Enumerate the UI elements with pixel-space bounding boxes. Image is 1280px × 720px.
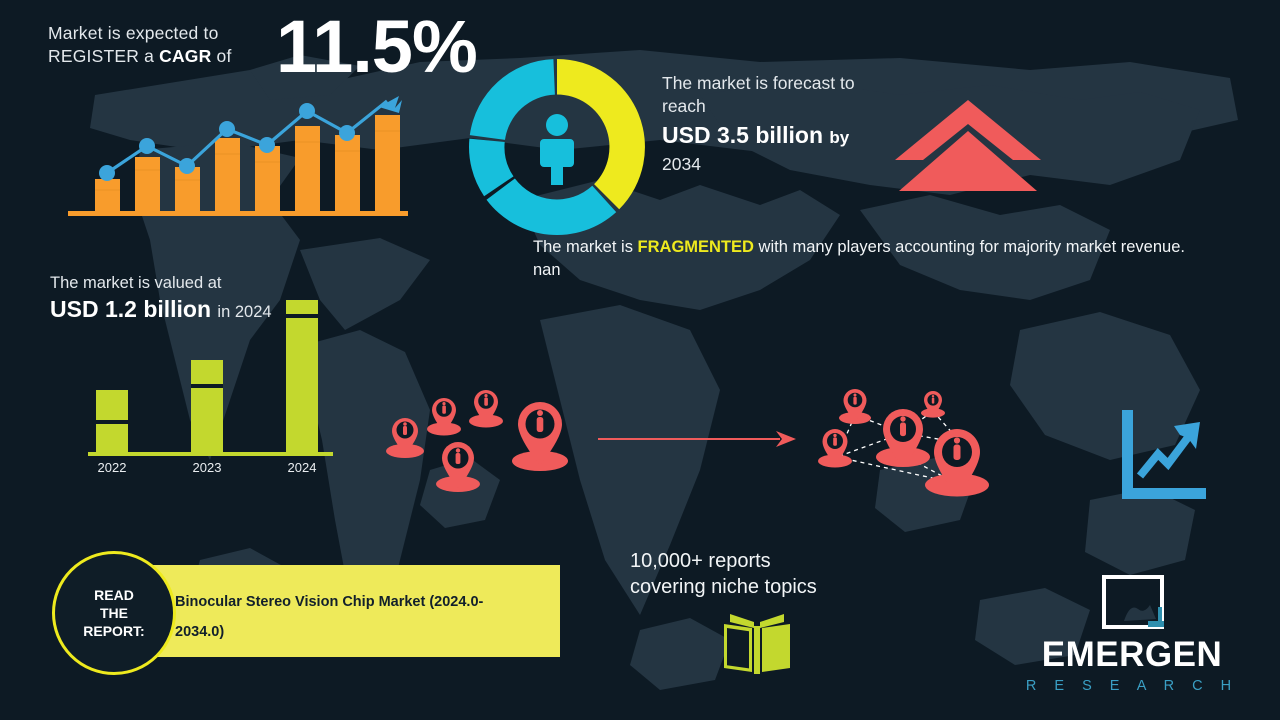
fragmented-pre: The market is — [533, 238, 638, 256]
right-arrow-icon — [598, 428, 798, 450]
valued-lead: The market is valued at — [50, 272, 350, 294]
green-bar-series — [96, 300, 318, 454]
donut-slice-cyan-3 — [470, 59, 555, 140]
market-share-donut-chart — [462, 52, 652, 242]
map-pin-person-icon — [818, 429, 852, 468]
cagr-lead-line2-pre: REGISTER a — [48, 46, 159, 66]
read-report-line1: READ — [94, 587, 134, 603]
read-report-line2: THE — [100, 605, 128, 621]
bar-series — [95, 115, 400, 212]
forecast-lead: The market is forecast to reach — [662, 72, 892, 118]
emergen-research-logo: EMERGEN R E S E A R C H — [1012, 573, 1252, 701]
xtick-2024: 2024 — [288, 460, 317, 472]
chart-baseline — [68, 211, 408, 216]
cagr-lead-line2-post: of — [211, 46, 231, 66]
cagr-lead-line1: Market is expected to — [48, 23, 219, 43]
map-pin-person-icon — [925, 429, 989, 497]
donut-slice-yellow — [557, 59, 645, 209]
map-pin-person-icon — [386, 418, 424, 458]
reports-line2: covering niche topics — [630, 576, 817, 598]
map-pin-person-icon — [839, 389, 871, 424]
logo-name: EMERGEN — [1012, 635, 1252, 675]
report-title[interactable]: Binocular Stereo Vision Chip Market (202… — [175, 587, 520, 647]
cagr-label: Market is expected to REGISTER a CAGR of — [48, 22, 263, 68]
forecast-value-suffix: by — [829, 128, 849, 147]
map-pin-cluster-scattered — [380, 388, 580, 493]
market-value-bars-chart: 2022 2023 2024 — [78, 292, 348, 472]
logo-subtitle: R E S E A R C H — [1012, 677, 1252, 695]
growth-trend-bars-chart — [68, 78, 408, 220]
person-icon — [540, 114, 574, 185]
forecast-value-row: USD 3.5 billion by — [662, 120, 892, 153]
map-pin-person-icon — [427, 398, 461, 436]
map-pin-person-icon — [876, 409, 930, 467]
fragmented-statement: The market is FRAGMENTED with many playe… — [533, 236, 1213, 282]
forecast-value: USD 3.5 billion — [662, 122, 823, 148]
infographic-canvas: Market is expected to REGISTER a CAGR of… — [0, 0, 1280, 720]
double-up-chevron-icon — [893, 98, 1043, 193]
map-pin-person-icon — [469, 390, 503, 428]
read-report-line3: REPORT: — [83, 623, 144, 639]
map-pin-person-icon — [921, 391, 945, 418]
fragmented-highlight: FRAGMENTED — [638, 238, 754, 256]
map-pin-cluster-networked — [805, 385, 1015, 503]
forecast-block: The market is forecast to reach USD 3.5 … — [662, 72, 892, 176]
xtick-2022: 2022 — [98, 460, 127, 472]
growth-chart-icon — [1118, 408, 1206, 500]
cagr-lead-bold: CAGR — [159, 46, 211, 66]
reports-count-block: 10,000+ reports covering niche topics — [630, 548, 930, 600]
open-book-icon — [718, 612, 796, 674]
read-report-button[interactable]: READ THE REPORT: — [52, 551, 176, 675]
donut-slice-cyan-1 — [487, 179, 617, 236]
forecast-year: 2034 — [662, 153, 892, 176]
reports-text: 10,000+ reports covering niche topics — [630, 548, 930, 600]
bar-2023 — [191, 360, 223, 454]
green-chart-baseline — [88, 452, 333, 456]
bar-2024 — [286, 300, 318, 454]
read-report-banner[interactable]: Binocular Stereo Vision Chip Market (202… — [150, 565, 560, 657]
map-pin-person-icon — [436, 442, 480, 492]
reports-line1: 10,000+ reports — [630, 550, 771, 572]
read-report-label: READ THE REPORT: — [83, 586, 144, 640]
map-pin-person-icon — [512, 402, 568, 471]
trend-polyline — [1140, 432, 1192, 476]
xtick-2023: 2023 — [193, 460, 222, 472]
